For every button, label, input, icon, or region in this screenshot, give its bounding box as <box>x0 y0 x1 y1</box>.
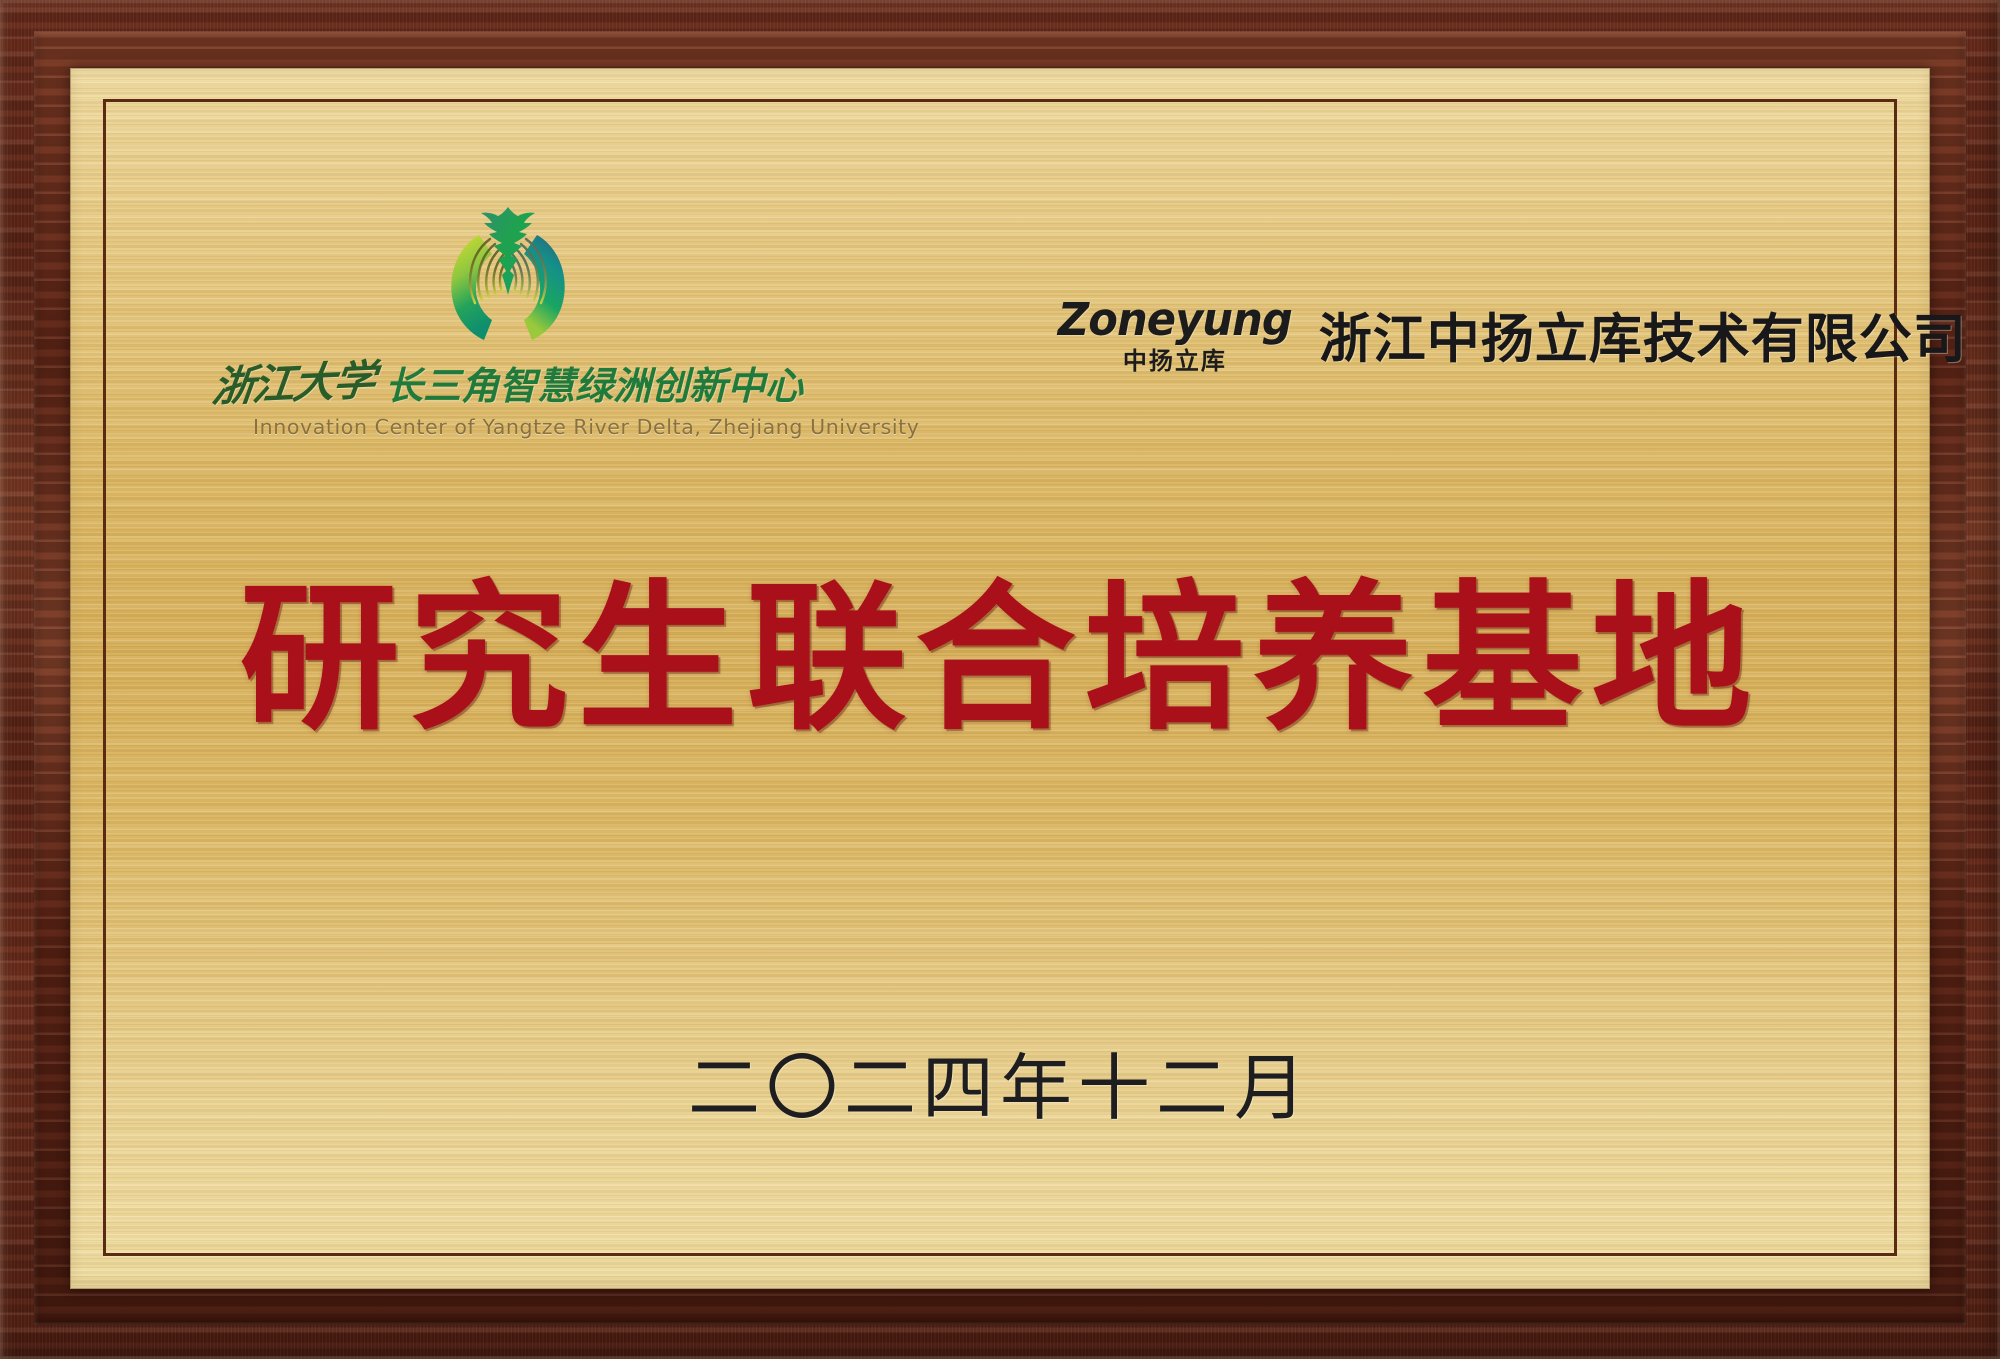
university-name-chinese-row: 浙江大学 长三角智慧绿洲创新中心 <box>253 355 763 405</box>
plaque-header: 浙江大学 长三角智慧绿洲创新中心 Innovation Center of Ya… <box>173 169 1827 489</box>
brushed-gold-plate: 浙江大学 长三角智慧绿洲创新中心 Innovation Center of Ya… <box>70 68 1930 1289</box>
plaque-date: 二〇二四年十二月 <box>173 1029 1827 1134</box>
award-plaque: 浙江大学 长三角智慧绿洲创新中心 Innovation Center of Ya… <box>0 0 2000 1359</box>
zoneyung-logo: Zoneyung 中扬立库 <box>1053 297 1297 373</box>
company-logo-block: Zoneyung 中扬立库 浙江中扬立库技术有限公司 <box>1053 297 1967 373</box>
zoneyung-wordmark-chinese: 中扬立库 <box>1053 349 1297 373</box>
plaque-title: 研究生联合培养基地 <box>173 579 1827 739</box>
university-logo-block: 浙江大学 长三角智慧绿洲创新中心 Innovation Center of Ya… <box>253 199 763 439</box>
innovation-center-name-english: Innovation Center of Yangtze River Delta… <box>253 415 763 439</box>
university-name-calligraphy: 浙江大学 <box>210 360 376 409</box>
plaque-content: 浙江大学 长三角智慧绿洲创新中心 Innovation Center of Ya… <box>173 169 1827 1186</box>
innovation-center-name-chinese: 长三角智慧绿洲创新中心 <box>385 367 803 405</box>
zhejiang-university-innovation-center-phoenix-emblem <box>435 199 581 349</box>
company-name: 浙江中扬立库技术有限公司 <box>1319 297 1967 373</box>
zoneyung-wordmark: Zoneyung <box>1058 297 1292 342</box>
